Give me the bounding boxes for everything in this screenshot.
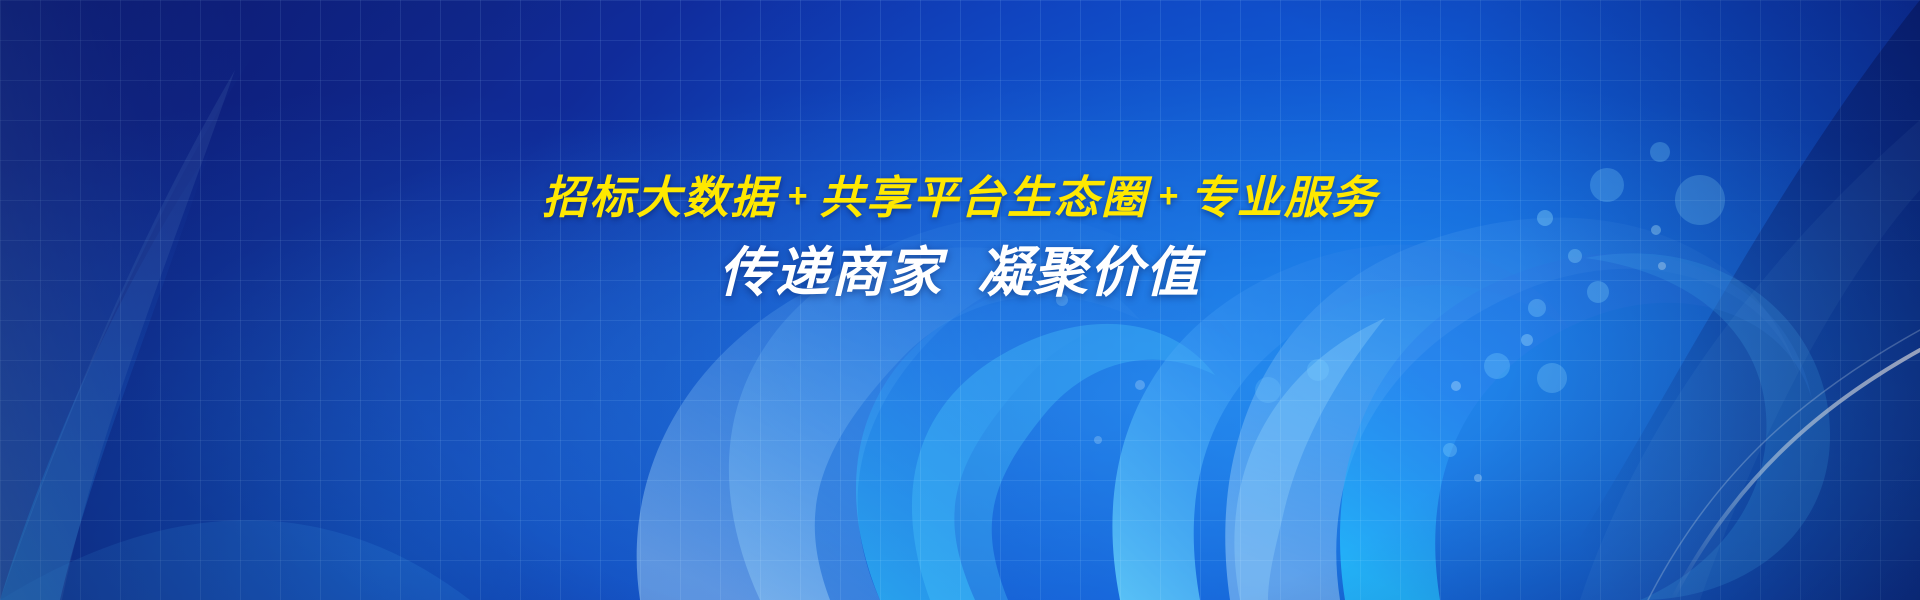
bubble	[1135, 380, 1145, 390]
bubble	[1443, 443, 1457, 457]
bubble	[1528, 299, 1546, 317]
bubble	[1056, 294, 1068, 306]
bubble	[1521, 334, 1533, 346]
background-artwork	[0, 0, 1920, 600]
bubble	[1451, 381, 1461, 391]
bubble	[1537, 363, 1567, 393]
bubble	[1474, 474, 1482, 482]
bubble	[1255, 377, 1281, 403]
bubble	[1675, 175, 1725, 225]
bubble	[1590, 168, 1624, 202]
bubble	[1307, 359, 1329, 381]
bubble	[1658, 262, 1666, 270]
bubble	[1484, 353, 1510, 379]
bubble	[1650, 142, 1670, 162]
bubble	[1651, 225, 1661, 235]
bubble	[1094, 436, 1102, 444]
bubble	[1568, 249, 1582, 263]
bubble	[1587, 281, 1609, 303]
hero-banner: 招标大数据+共享平台生态圈+专业服务 传递商家凝聚价值	[0, 0, 1920, 600]
bubble	[1537, 210, 1553, 226]
